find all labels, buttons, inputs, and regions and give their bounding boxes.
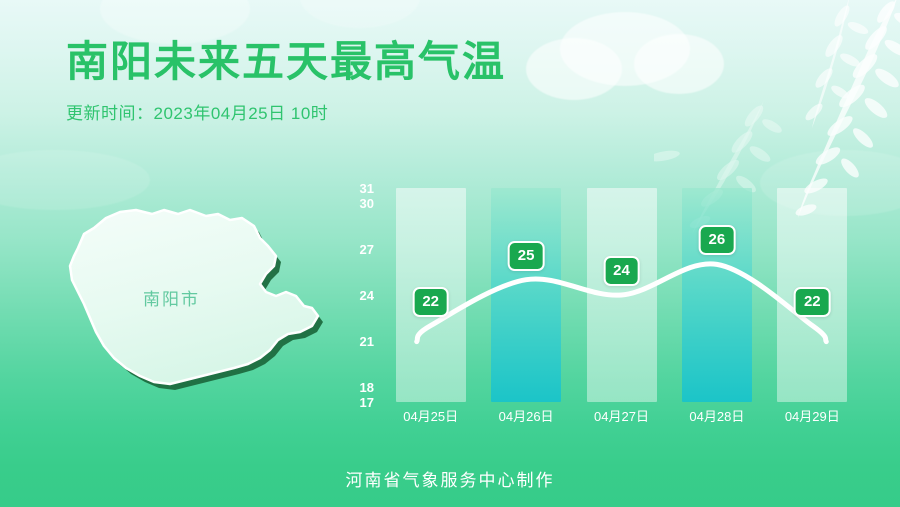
cloud-icon (300, 0, 420, 28)
x-axis-label: 04月25日 (383, 406, 479, 425)
x-axis-label: 04月27日 (574, 406, 670, 425)
poster-header: 南阳未来五天最高气温 更新时间：2023年04月25日 10时 (66, 38, 506, 124)
x-axis-label: 04月26日 (478, 406, 574, 425)
cloud-icon (0, 150, 150, 210)
y-axis-tick: 31 (360, 182, 374, 195)
y-axis-tick: 21 (360, 335, 374, 348)
temperature-value-badge: 26 (699, 225, 736, 255)
weather-forecast-poster: 南阳未来五天最高气温 更新时间：2023年04月25日 10时 南阳市 3130… (0, 0, 900, 507)
map-shape-icon (56, 206, 346, 406)
temperature-chart: 31302724211817 2225242622 04月25日04月26日04… (340, 188, 860, 420)
chart-plot-area: 2225242622 (383, 188, 860, 402)
footer-credit: 河南省气象服务中心制作 (0, 466, 900, 491)
y-axis-tick: 18 (360, 381, 374, 394)
chart-y-axis: 31302724211817 (340, 188, 374, 402)
temperature-value-badge: 24 (603, 256, 640, 286)
x-axis-label: 04月29日 (764, 406, 860, 425)
page-title: 南阳未来五天最高气温 (66, 38, 506, 85)
map-region-label: 南阳市 (143, 285, 200, 310)
chart-x-axis: 04月25日04月26日04月27日04月28日04月29日 (383, 406, 860, 428)
temperature-value-badge: 25 (508, 241, 545, 271)
y-axis-tick: 24 (360, 289, 374, 302)
temperature-value-badge: 22 (412, 287, 449, 317)
cloud-icon (560, 12, 690, 86)
temperature-value-badge: 22 (794, 287, 831, 317)
nanyang-map (56, 206, 346, 406)
y-axis-tick: 30 (360, 197, 374, 210)
y-axis-tick: 27 (360, 243, 374, 256)
y-axis-tick: 17 (360, 396, 374, 409)
update-time-text: 更新时间：2023年04月25日 10时 (66, 99, 506, 124)
x-axis-label: 04月28日 (669, 406, 765, 425)
temperature-line (383, 188, 860, 402)
